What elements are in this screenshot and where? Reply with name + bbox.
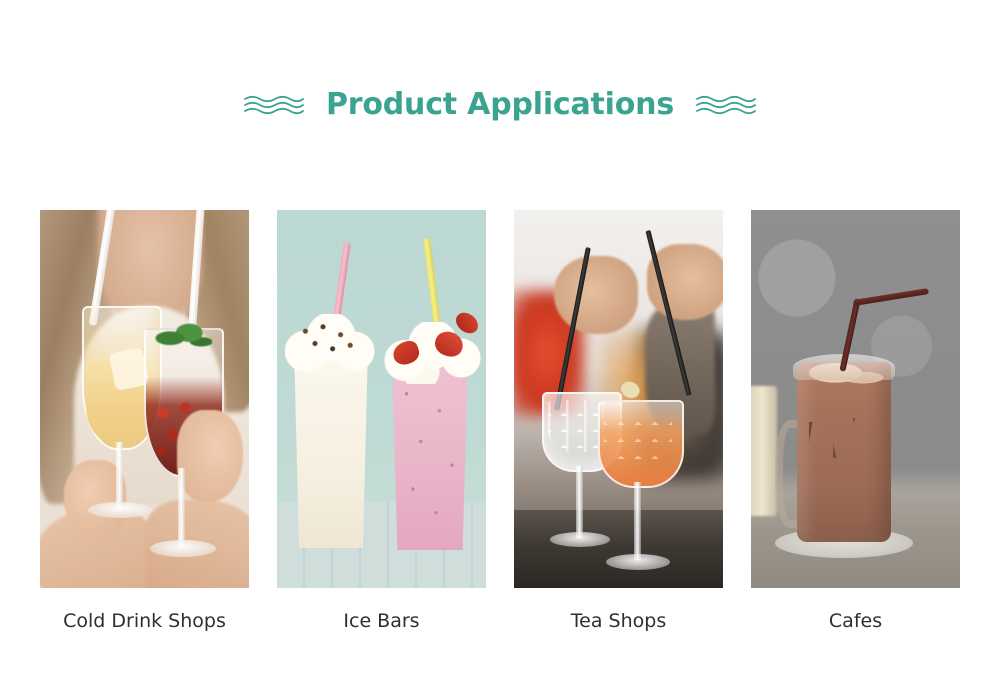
application-card-cafes: Cafes <box>751 210 960 650</box>
wave-ornament-right-icon <box>696 94 756 116</box>
section-header: Product Applications <box>0 80 1000 130</box>
application-caption: Ice Bars <box>343 612 419 631</box>
application-card-grid: Cold Drink Shops Ice Bars <box>40 210 960 650</box>
product-applications-banner: Product Applications <box>0 0 1000 692</box>
cafes-photo <box>751 210 960 588</box>
application-caption: Tea Shops <box>571 612 666 631</box>
application-caption: Cafes <box>829 612 882 631</box>
tea-shops-photo <box>514 210 723 588</box>
page-title: Product Applications <box>326 90 674 120</box>
ice-bars-photo <box>277 210 486 588</box>
application-caption: Cold Drink Shops <box>63 612 226 631</box>
cold-drink-shops-photo <box>40 210 249 588</box>
wave-ornament-left-icon <box>244 94 304 116</box>
application-card-ice-bars: Ice Bars <box>277 210 486 650</box>
application-card-tea-shops: Tea Shops <box>514 210 723 650</box>
application-card-cold-drink-shops: Cold Drink Shops <box>40 210 249 650</box>
